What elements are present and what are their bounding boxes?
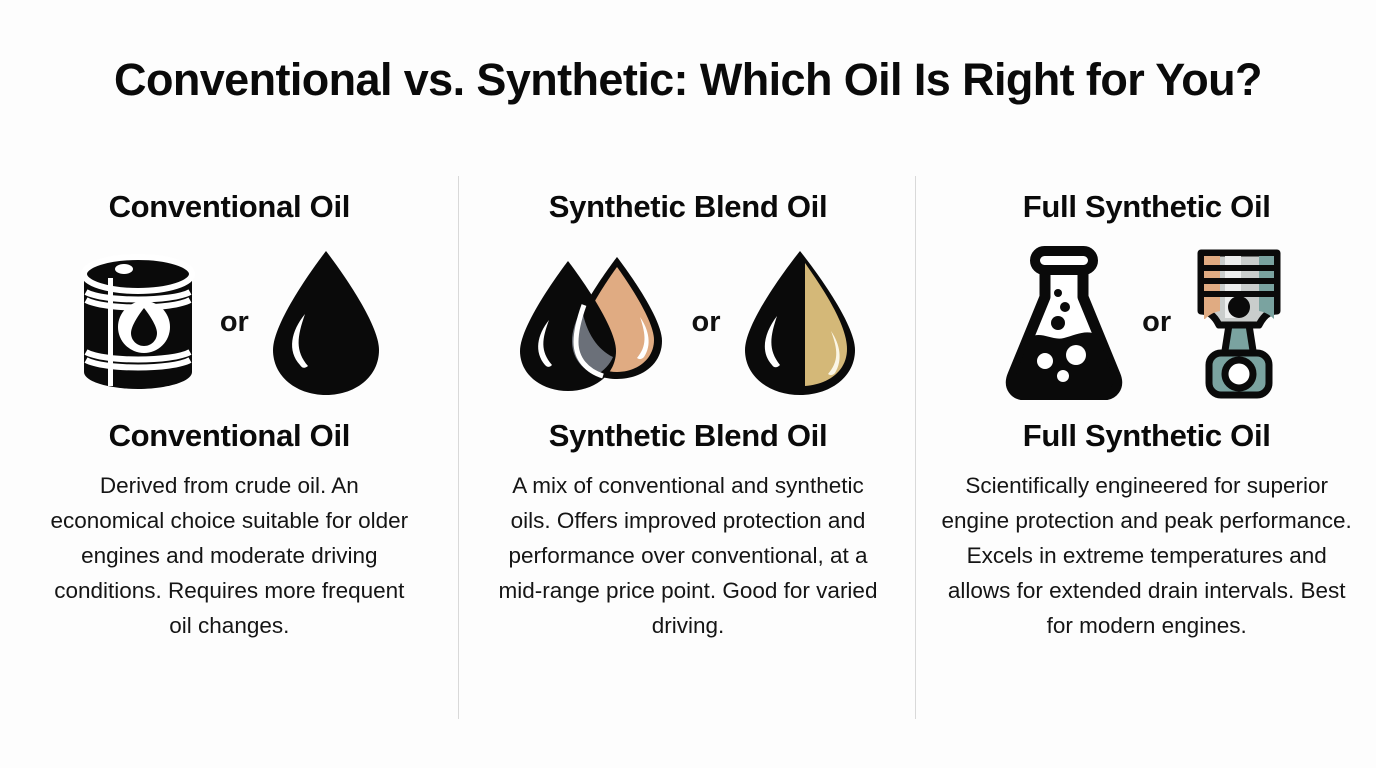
item-description: A mix of conventional and synthetic oils…	[493, 469, 883, 643]
item-description: Scientifically engineered for superior e…	[941, 469, 1353, 643]
blended-droplets-icon	[516, 247, 674, 399]
icon-row: or	[74, 240, 385, 405]
or-label: or	[688, 308, 725, 337]
column-heading: Full Synthetic Oil	[1023, 190, 1271, 224]
item-description: Derived from crude oil. An economical ch…	[42, 469, 417, 643]
oil-barrel-icon	[74, 248, 202, 398]
item-label: Full Synthetic Oil	[1023, 419, 1271, 453]
column-synthetic-blend-oil: Synthetic Blend Oil	[459, 176, 918, 736]
column-full-synthetic-oil: Full Synthetic Oil	[917, 176, 1376, 736]
icon-row: or	[1004, 240, 1289, 405]
split-droplet-icon	[739, 247, 861, 399]
or-label: or	[1138, 308, 1175, 337]
icon-row: or	[516, 240, 861, 405]
item-label: Conventional Oil	[109, 419, 351, 453]
or-label: or	[216, 308, 253, 337]
infographic-page: Conventional vs. Synthetic: Which Oil Is…	[0, 0, 1376, 768]
comparison-columns: Conventional Oil	[0, 176, 1376, 736]
column-conventional-oil: Conventional Oil	[0, 176, 459, 736]
engine-piston-icon	[1189, 245, 1289, 400]
lab-flask-icon	[1004, 245, 1124, 400]
oil-droplet-icon	[267, 247, 385, 399]
column-heading: Conventional Oil	[109, 190, 351, 224]
page-title: Conventional vs. Synthetic: Which Oil Is…	[0, 54, 1376, 106]
column-heading: Synthetic Blend Oil	[549, 190, 828, 224]
item-label: Synthetic Blend Oil	[549, 419, 828, 453]
